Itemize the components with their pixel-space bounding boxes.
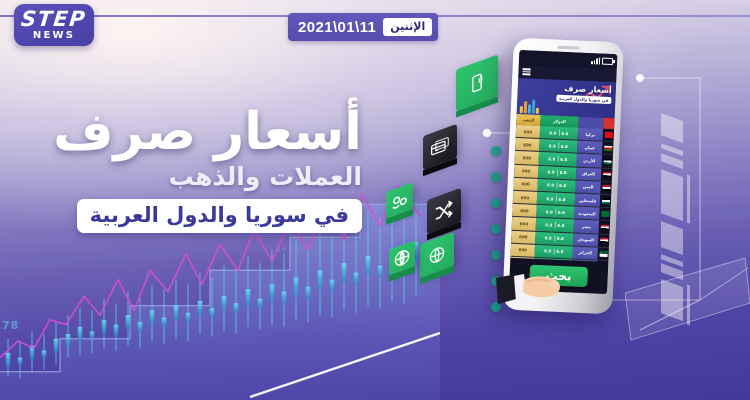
cell-gold: 600	[513, 178, 538, 191]
logo-primary-text: STEP	[20, 10, 87, 29]
hamburger-menu-icon[interactable]	[522, 67, 530, 77]
cell-rate: 6.96.8	[536, 218, 574, 232]
cell-flag	[598, 234, 610, 247]
cell-rate: 6.96.8	[539, 139, 577, 153]
phone-speaker	[558, 46, 580, 50]
phone-screen: أسعار صرف في سوريا والدول العربية الذهب …	[509, 50, 617, 294]
hand-pointer-illustration	[494, 268, 564, 308]
weekday-value: الإثنين	[383, 18, 432, 36]
app-banner-title: أسعار صرف	[564, 84, 612, 95]
logo-secondary-text: NEWS	[33, 30, 75, 41]
cell-flag	[601, 155, 613, 168]
cell-rate: 6.96.8	[537, 192, 575, 206]
tile-edge	[456, 96, 498, 117]
cell-country: السودان	[573, 233, 599, 246]
cell-country: عمان	[577, 141, 603, 154]
country-flag-icon	[600, 224, 608, 230]
cell-rate: 6.96.8	[537, 179, 575, 193]
cell-flag	[597, 247, 609, 260]
cell-country: اليمن	[575, 180, 601, 193]
cell-gold: 600	[513, 191, 538, 204]
app-banner-subtitle: في سوريا والدول العربية	[556, 95, 612, 104]
country-flag-icon	[601, 211, 609, 217]
signal-icon	[591, 57, 600, 65]
cell-flag	[599, 208, 611, 221]
chart-faint-label: 89 01	[276, 246, 301, 254]
infographic-canvas: 78 89 01 STEP NEWS 2021\01\11 الإثنين أس…	[0, 0, 750, 400]
country-flag-icon	[604, 132, 612, 138]
dot-indicator	[491, 172, 501, 182]
column-header-flag	[603, 118, 614, 129]
chart-step-band	[0, 204, 440, 400]
cell-flag	[603, 129, 615, 142]
country-flag-icon	[601, 198, 609, 204]
coins-illustration	[520, 99, 540, 114]
cell-country: مصر	[574, 220, 600, 233]
page-title: أسعار صرف	[22, 104, 362, 160]
cell-rate: 6.96.8	[538, 165, 576, 179]
chart-axis-tick: 78	[2, 319, 19, 332]
cell-gold: 600	[515, 151, 540, 164]
cell-rate: 6.96.8	[534, 245, 572, 259]
cell-flag	[599, 221, 611, 234]
cell-rate: 6.96.8	[535, 231, 573, 245]
dot-indicator	[491, 224, 501, 234]
cell-rate: 6.96.8	[538, 152, 576, 166]
country-flag-icon	[604, 145, 612, 151]
cell-gold: 600	[512, 204, 537, 217]
tile-edge	[423, 158, 457, 176]
cell-gold: 600	[516, 125, 541, 138]
cell-country: العراق	[576, 167, 602, 180]
country-flag-icon	[602, 172, 610, 178]
page-highlight-pill: في سوريا والدول العربية	[77, 199, 362, 233]
cell-gold: 600	[515, 138, 540, 151]
cell-flag	[601, 168, 613, 181]
cell-gold: 600	[511, 230, 536, 243]
dot-indicator	[491, 146, 501, 156]
dot-indicator	[491, 198, 501, 208]
cell-rate: 6.96.8	[536, 205, 574, 219]
country-flag-icon	[599, 251, 607, 257]
date-value: 2021\01\11	[298, 19, 376, 36]
headline-block: أسعار صرف العملات والذهب في سوريا والدول…	[22, 104, 362, 233]
cell-rate: 6.96.8	[540, 126, 578, 140]
credit-card-icon[interactable]	[423, 124, 457, 170]
page-subtitle: العملات والذهب	[22, 162, 362, 192]
cell-flag	[602, 142, 614, 155]
mobile-nfc-icon[interactable]	[456, 54, 498, 111]
cell-country: السعودية	[574, 207, 600, 220]
step-news-logo[interactable]: STEP NEWS	[14, 4, 94, 46]
app-banner: أسعار صرف في سوريا والدول العربية	[517, 78, 616, 118]
cell-gold: 600	[510, 243, 535, 256]
cell-gold: 600	[512, 217, 537, 230]
cell-country: الجزائر	[572, 246, 598, 259]
country-flag-icon	[603, 158, 611, 164]
battery-icon	[602, 58, 613, 65]
right-isometric-panels	[625, 48, 750, 358]
cell-flag	[600, 181, 612, 194]
cell-gold: 600	[514, 164, 539, 177]
country-flag-icon	[602, 185, 610, 191]
dot-indicator	[491, 250, 501, 260]
cell-country: الأردن	[576, 154, 602, 167]
page-highlight-text: في سوريا والدول العربية	[90, 203, 349, 227]
country-flag-icon	[600, 238, 608, 244]
cell-country: تركيا	[578, 128, 604, 141]
cell-flag	[600, 195, 612, 208]
cell-country: فلسطين	[575, 193, 601, 206]
date-badge: 2021\01\11 الإثنين	[288, 13, 438, 41]
